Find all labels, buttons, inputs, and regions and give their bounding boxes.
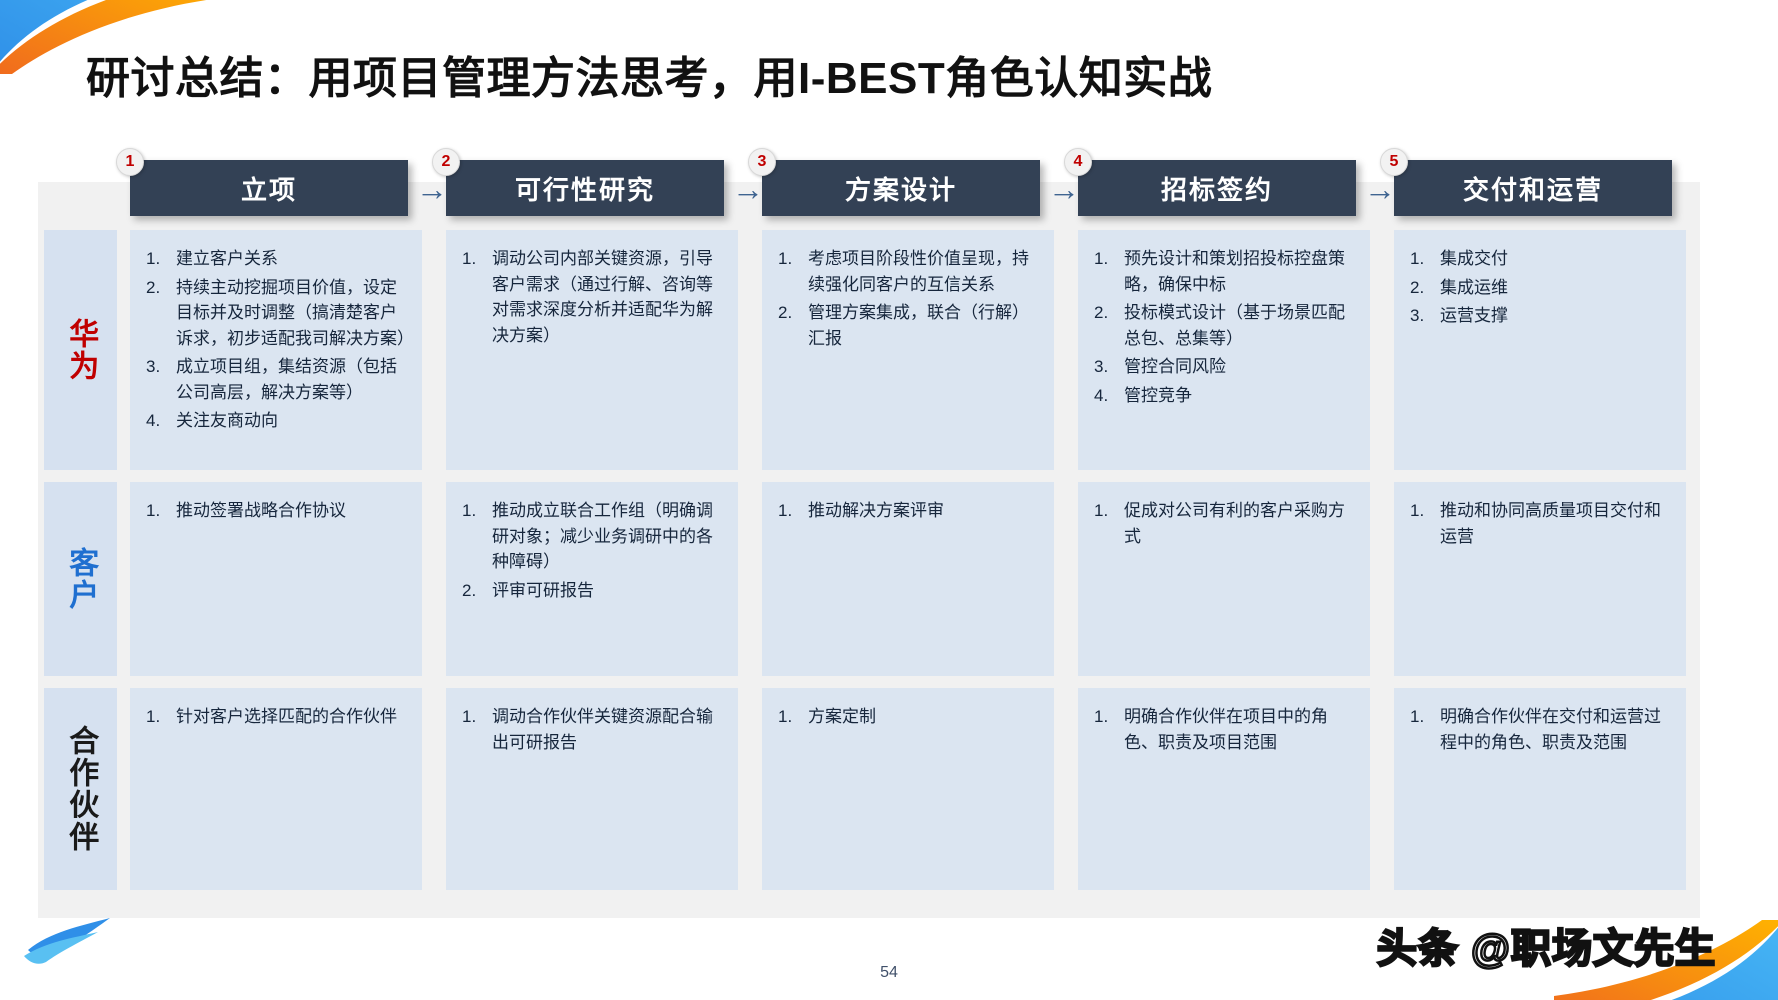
stage-header-label: 交付和运营 — [1463, 170, 1603, 207]
matrix-cell-item: 管控竞争 — [1088, 383, 1360, 409]
row-label-customer: 客户 — [44, 482, 117, 676]
watermark-text: 头条 @职场文先生 — [1377, 916, 1716, 974]
matrix-cell: 推动签署战略合作协议 — [130, 482, 422, 676]
stage-header-label: 方案设计 — [845, 170, 957, 207]
stage-header-2[interactable]: 2可行性研究 — [446, 160, 724, 216]
matrix-cell-item: 运营支撑 — [1404, 303, 1676, 329]
matrix-cell-item: 管控合同风险 — [1088, 354, 1360, 380]
stage-header-5[interactable]: 5交付和运营 — [1394, 160, 1672, 216]
stage-header-4[interactable]: 4招标签约 — [1078, 160, 1356, 216]
stage-header-1[interactable]: 1立项 — [130, 160, 408, 216]
matrix-cell-item: 评审可研报告 — [456, 578, 728, 604]
matrix-cell: 调动公司内部关键资源，引导客户需求（通过行解、咨询等对需求深度分析并适配华为解决… — [446, 230, 738, 470]
matrix-cell-item: 促成对公司有利的客户采购方式 — [1088, 498, 1360, 549]
stage-header-label: 可行性研究 — [515, 170, 655, 207]
matrix-cell: 促成对公司有利的客户采购方式 — [1078, 482, 1370, 676]
matrix-cell-item: 集成运维 — [1404, 275, 1676, 301]
matrix-cell-item: 预先设计和策划招投标控盘策略，确保中标 — [1088, 246, 1360, 297]
matrix-cell: 推动解决方案评审 — [762, 482, 1054, 676]
stage-header-label: 立项 — [241, 170, 297, 207]
matrix-cell-item: 集成交付 — [1404, 246, 1676, 272]
matrix-cell-item: 推动解决方案评审 — [772, 498, 1044, 524]
matrix-cell-item: 考虑项目阶段性价值呈现，持续强化同客户的互信关系 — [772, 246, 1044, 297]
matrix-cell: 调动合作伙伴关键资源配合输出可研报告 — [446, 688, 738, 890]
row-label-huawei: 华为 — [44, 230, 117, 470]
matrix-cell-item: 针对客户选择匹配的合作伙伴 — [140, 704, 412, 730]
stage-number-badge: 5 — [1380, 148, 1408, 176]
matrix-cell: 方案定制 — [762, 688, 1054, 890]
matrix-cell-item: 推动签署战略合作协议 — [140, 498, 412, 524]
matrix-cell: 明确合作伙伴在交付和运营过程中的角色、职责及范围 — [1394, 688, 1686, 890]
matrix-cell: 推动成立联合工作组（明确调研对象；减少业务调研中的各种障碍）评审可研报告 — [446, 482, 738, 676]
matrix-cell-item: 管理方案集成，联合（行解）汇报 — [772, 300, 1044, 351]
matrix-cell-item: 调动公司内部关键资源，引导客户需求（通过行解、咨询等对需求深度分析并适配华为解决… — [456, 246, 728, 348]
matrix-cell-item: 方案定制 — [772, 704, 1044, 730]
row-label-partner: 合作伙伴 — [44, 688, 117, 890]
matrix-cell: 推动和协同高质量项目交付和运营 — [1394, 482, 1686, 676]
matrix-cell-item: 明确合作伙伴在交付和运营过程中的角色、职责及范围 — [1404, 704, 1676, 755]
stage-header-label: 招标签约 — [1161, 170, 1273, 207]
matrix-cell-item: 推动和协同高质量项目交付和运营 — [1404, 498, 1676, 549]
matrix-cell: 建立客户关系持续主动挖掘项目价值，设定目标并及时调整（搞清楚客户诉求，初步适配我… — [130, 230, 422, 470]
stage-number-badge: 3 — [748, 148, 776, 176]
slide-root: 研讨总结：用项目管理方法思考，用I-BEST角色认知实战 华为 建立客户关系持续… — [0, 0, 1778, 1000]
stage-number-badge: 4 — [1064, 148, 1092, 176]
matrix-cell: 集成交付集成运维运营支撑 — [1394, 230, 1686, 470]
page-title: 研讨总结：用项目管理方法思考，用I-BEST角色认知实战 — [86, 42, 1212, 106]
matrix-cell: 针对客户选择匹配的合作伙伴 — [130, 688, 422, 890]
stage-header-row: 1立项→2可行性研究→3方案设计→4招标签约→5交付和运营 — [38, 160, 1700, 222]
matrix-cell-item: 持续主动挖掘项目价值，设定目标并及时调整（搞清楚客户诉求，初步适配我司解决方案） — [140, 275, 412, 352]
stage-number-badge: 1 — [116, 148, 144, 176]
matrix-cell: 考虑项目阶段性价值呈现，持续强化同客户的互信关系管理方案集成，联合（行解）汇报 — [762, 230, 1054, 470]
wave-logo-icon — [24, 910, 144, 970]
matrix-cell: 明确合作伙伴在项目中的角色、职责及项目范围 — [1078, 688, 1370, 890]
matrix-cell-item: 调动合作伙伴关键资源配合输出可研报告 — [456, 704, 728, 755]
stage-header-3[interactable]: 3方案设计 — [762, 160, 1040, 216]
matrix-cell-item: 明确合作伙伴在项目中的角色、职责及项目范围 — [1088, 704, 1360, 755]
matrix-cell-item: 成立项目组，集结资源（包括公司高层，解决方案等） — [140, 354, 412, 405]
matrix-cell-item: 关注友商动向 — [140, 408, 412, 434]
matrix-cell-item: 建立客户关系 — [140, 246, 412, 272]
matrix-cell-item: 投标模式设计（基于场景匹配总包、总集等） — [1088, 300, 1360, 351]
matrix-cell: 预先设计和策划招投标控盘策略，确保中标投标模式设计（基于场景匹配总包、总集等）管… — [1078, 230, 1370, 470]
stage-number-badge: 2 — [432, 148, 460, 176]
matrix-cell-item: 推动成立联合工作组（明确调研对象；减少业务调研中的各种障碍） — [456, 498, 728, 575]
process-matrix: 华为 建立客户关系持续主动挖掘项目价值，设定目标并及时调整（搞清楚客户诉求，初步… — [38, 182, 1700, 918]
